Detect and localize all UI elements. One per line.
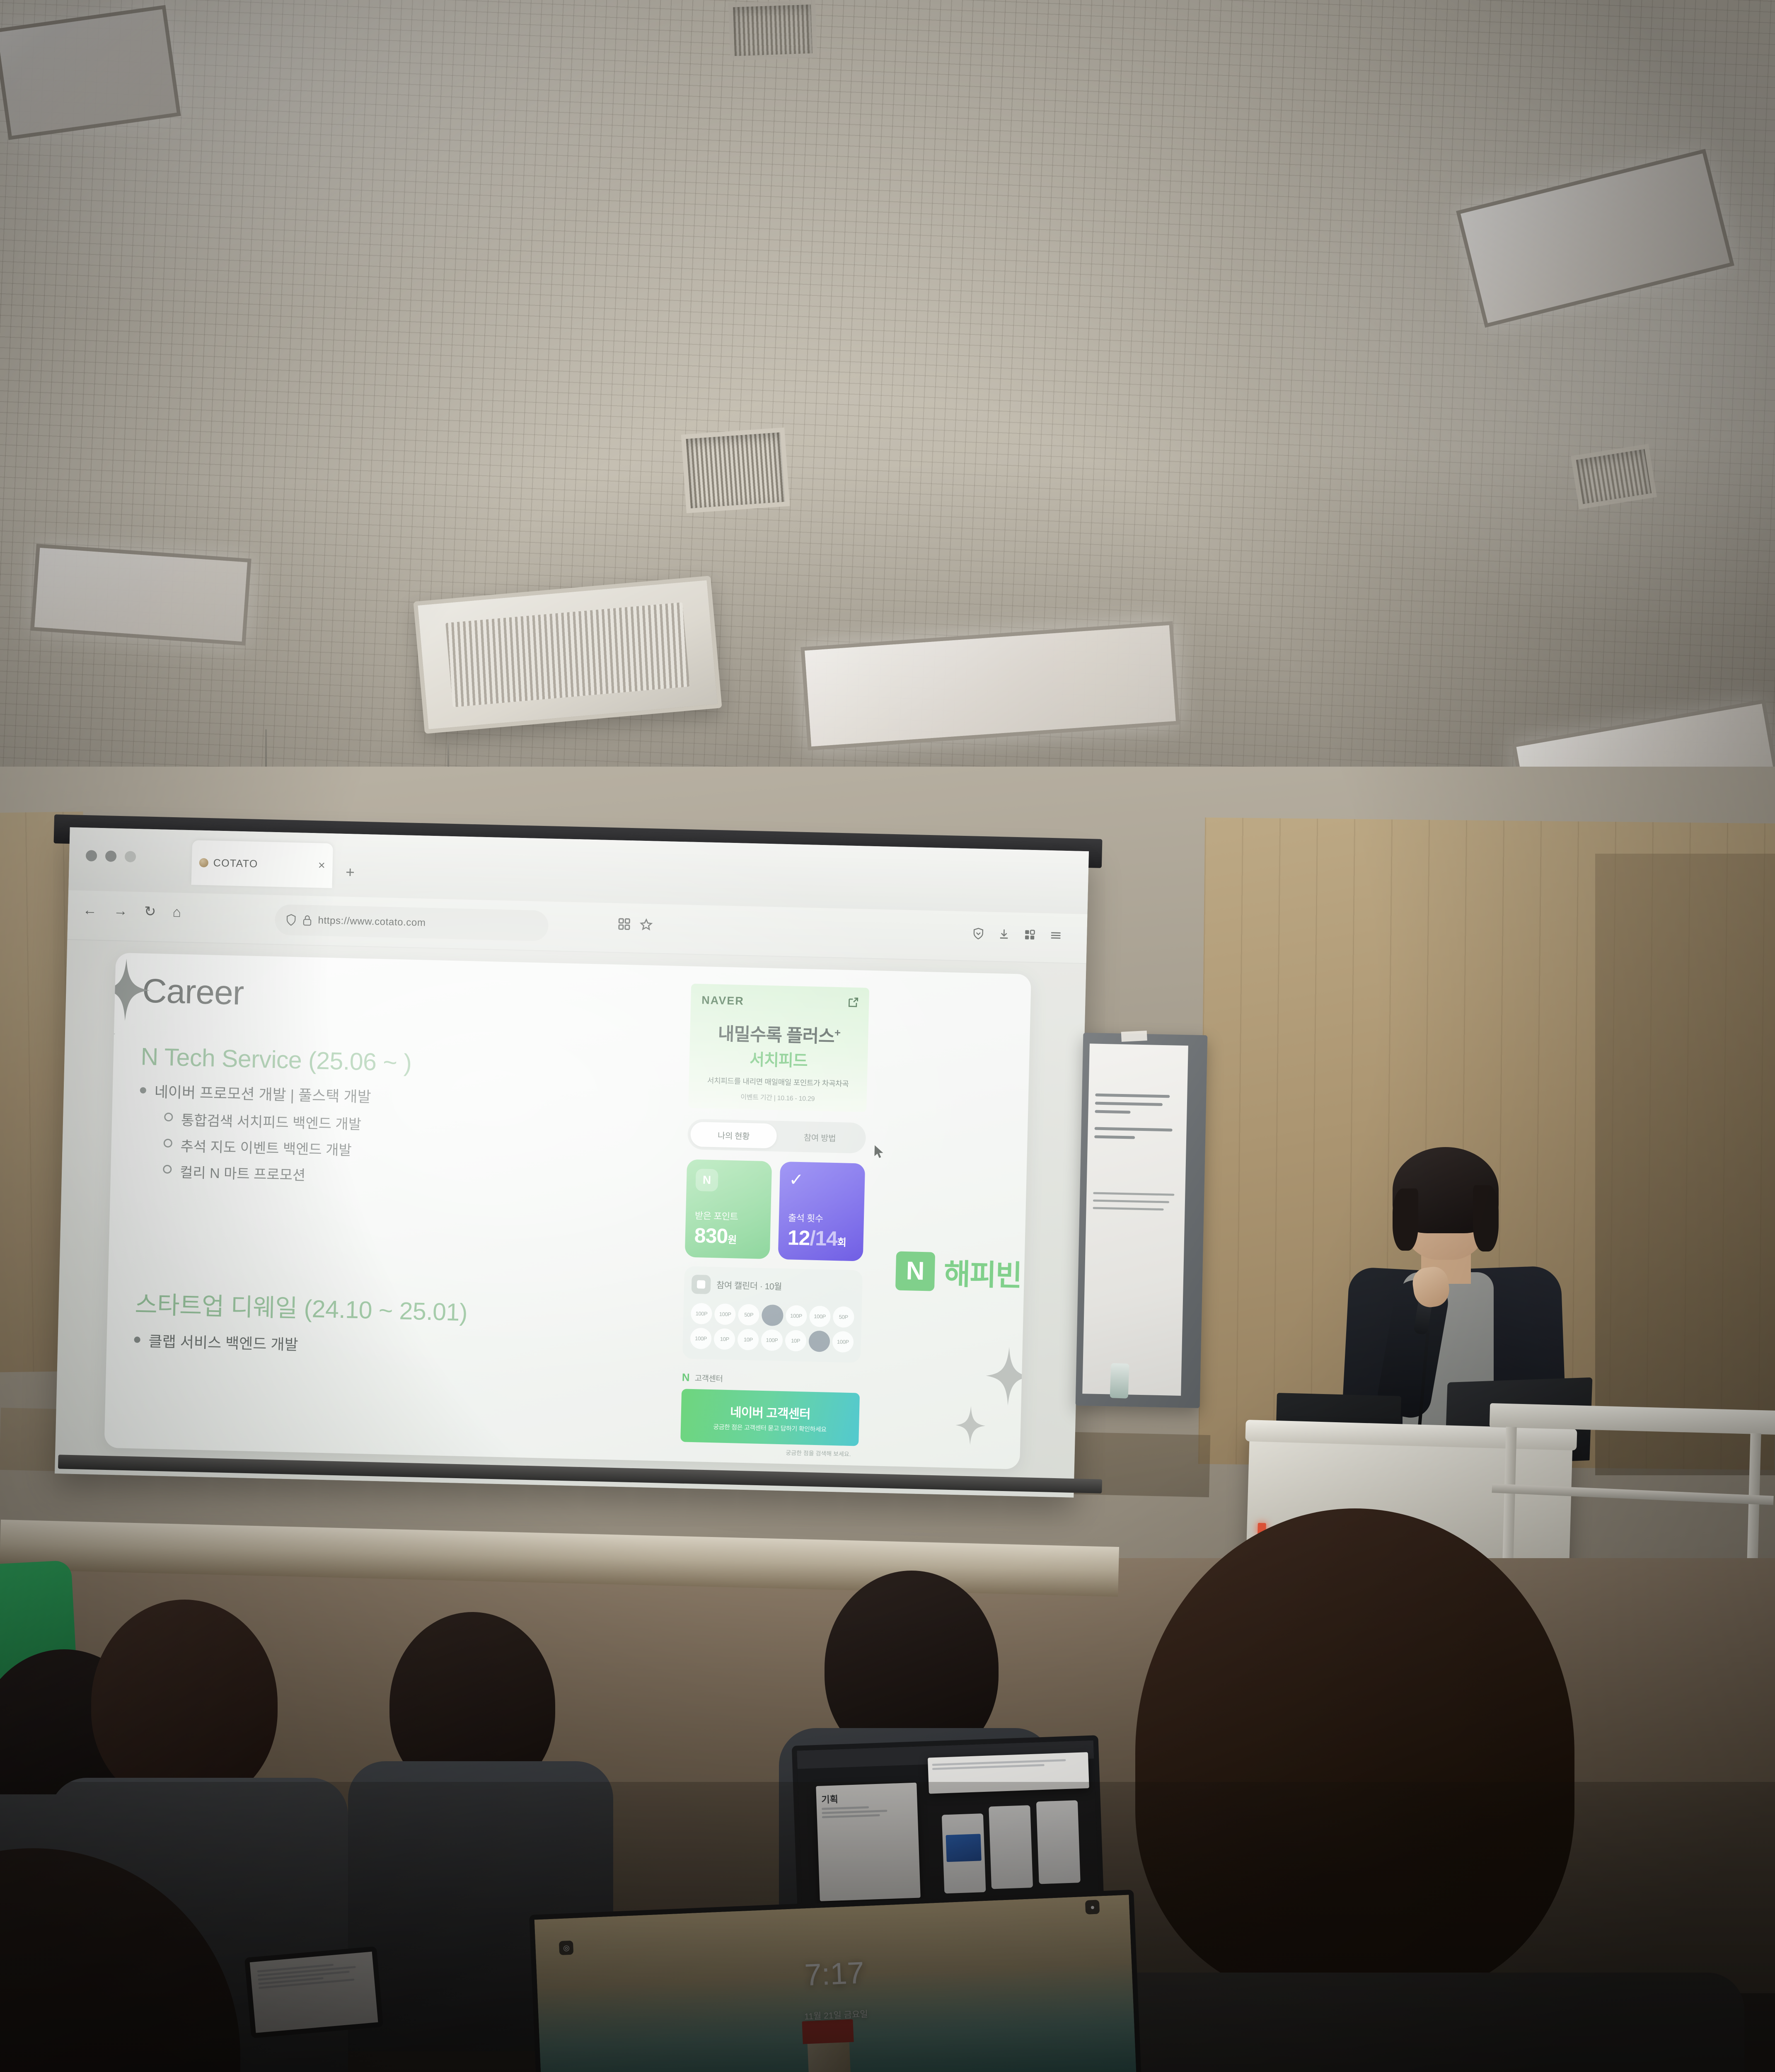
ceiling-air-conditioner (413, 576, 722, 734)
tab-close-icon[interactable]: × (318, 859, 325, 871)
presenter-hair-side-left (1393, 1188, 1418, 1251)
url-text: https://www.cotato.com (318, 915, 426, 929)
promo-title-line1: 내밀수록 플러스+ (701, 1019, 858, 1048)
support-brand-label: 고객센터 (694, 1372, 723, 1384)
projected-browser-window: COTATO × + ← → ↻ ⌂ (55, 827, 1089, 1498)
section-bullet-list: 네이버 프로모션 개발 | 풀스택 개발 통합검색 서치피드 백엔드 개발 추석… (138, 1080, 658, 1192)
sparkle-icon-small-topleft (104, 1014, 116, 1053)
whiteboard-note-3 (1093, 1192, 1178, 1211)
calendar-day[interactable]: 100P (690, 1328, 711, 1349)
shield-icon (285, 914, 297, 927)
ceiling-vent-2 (728, 0, 817, 61)
calendar-title: 참여 캘린더 · 10월 (716, 1278, 782, 1293)
presenter-hair-side-right (1473, 1185, 1499, 1251)
download-icon[interactable] (998, 928, 1010, 941)
promo-subtitle: 서치피드를 내리면 매일매일 포인트가 차곡차곡 (699, 1075, 856, 1089)
whiteboard-tape (1121, 1031, 1147, 1042)
promo-stats-row: N 받은 포인트 830원 ✓ 출석 횟수 12/14회 (685, 1159, 865, 1261)
bookmark-star-icon[interactable] (639, 918, 653, 932)
ceiling-light-panel-3 (30, 544, 251, 646)
new-tab-button[interactable]: + (346, 864, 355, 880)
naver-support-brand: N 고객센터 (682, 1371, 860, 1388)
happybean-wordmark: 해피빈 (943, 1251, 1022, 1294)
support-banner-title: 네이버 고객센터 (730, 1402, 811, 1422)
section-heading: 스타트업 디웨일 (24.10 ~ 25.01) (135, 1285, 653, 1332)
reload-button[interactable]: ↻ (144, 905, 156, 919)
calendar-day[interactable]: 100P (761, 1329, 783, 1351)
bullet-item: 클랩 서비스 백엔드 개발 (134, 1329, 652, 1363)
support-banner-subtitle: 궁금한 점은 고객센터 묻고 답하기 확인하세요 (713, 1422, 827, 1433)
cotato-favicon (199, 858, 209, 868)
qr-grid-icon[interactable] (618, 917, 631, 930)
home-button[interactable]: ⌂ (172, 905, 181, 919)
whiteboard (1076, 1033, 1208, 1408)
naver-support-banner[interactable]: 네이버 고객센터 궁금한 점은 고객센터 묻고 답하기 확인하세요 궁금한 점을… (680, 1389, 860, 1446)
forward-button[interactable]: → (114, 904, 128, 918)
whiteboard-marker (1110, 1363, 1129, 1398)
calendar-day[interactable]: 10P (785, 1330, 806, 1351)
calendar-day[interactable]: 50P (738, 1304, 759, 1326)
calendar-day[interactable]: 100P (691, 1303, 712, 1324)
stat-unit: 회 (837, 1237, 846, 1248)
lecture-hall-photo: COTATO × + ← → ↻ ⌂ (0, 0, 1775, 2072)
lock-icon (302, 914, 312, 927)
extensions-icon[interactable] (1024, 929, 1036, 941)
window-close-dot[interactable] (86, 850, 97, 862)
stat-number-total: /14 (810, 1227, 838, 1251)
sparkle-icon-small-bottomright (955, 1406, 986, 1445)
sparkle-icon-large-bottomright (984, 1346, 1031, 1406)
calendar-day-grid: 100P 100P 50P 100P 100P 50P 100P 10P 10P… (690, 1303, 854, 1353)
stat-value: 830원 (694, 1223, 737, 1248)
calendar-icon (692, 1275, 711, 1294)
browser-tab-cotato[interactable]: COTATO × (191, 840, 333, 888)
calendar-day[interactable]: 100P (714, 1303, 736, 1325)
stat-number: 12 (787, 1226, 810, 1249)
stat-card-points[interactable]: N 받은 포인트 830원 (685, 1159, 772, 1259)
naver-n-badge-icon: N (695, 1169, 718, 1191)
tab-my-status[interactable]: 나의 현황 (690, 1122, 777, 1149)
whiteboard-note-2 (1094, 1127, 1179, 1140)
bullet-item: 컬리 N 마트 프로모션 (163, 1161, 656, 1193)
stat-card-attendance[interactable]: ✓ 출석 횟수 12/14회 (778, 1162, 866, 1261)
promo-period: 이벤트 기간 | 10.16 - 10.29 (699, 1090, 856, 1104)
ceiling-vent-1 (681, 428, 790, 513)
mouse-cursor-icon (873, 1145, 885, 1160)
calendar-day[interactable]: 100P (832, 1331, 854, 1353)
back-button[interactable]: ← (83, 903, 97, 917)
sparkle-icon-large-topleft (104, 958, 151, 1021)
menu-icon[interactable] (1050, 930, 1062, 941)
whiteboard-note-1 (1095, 1094, 1180, 1115)
address-bar[interactable]: https://www.cotato.com (275, 904, 549, 942)
tracking-shield-icon[interactable] (972, 927, 984, 940)
promo-title-line2: 서치피드 (700, 1046, 857, 1072)
naver-promo-mock-column: NAVER 내밀수록 플러스+ 서치피드 서치피드를 내리면 매일매일 포인트가… (680, 984, 869, 1446)
window-minimize-dot[interactable] (105, 850, 117, 862)
stat-number: 830 (694, 1224, 728, 1248)
promo-plus-sign: + (834, 1026, 841, 1039)
bullet-item: 네이버 프로모션 개발 | 풀스택 개발 (140, 1080, 658, 1113)
stat-unit: 원 (728, 1234, 737, 1246)
ac-grill (445, 602, 690, 707)
bullet-item: 추석 지도 이벤트 백엔드 개발 (163, 1135, 657, 1167)
stat-label: 출석 횟수 (788, 1210, 823, 1225)
foreground-shadow-overlay (0, 1782, 1775, 2072)
window-traffic-lights[interactable] (86, 850, 136, 862)
career-section-dwhale: 스타트업 디웨일 (24.10 ~ 25.01) 클랩 서비스 백엔드 개발 (134, 1285, 653, 1369)
audience-head-left-front (91, 1600, 278, 1807)
support-search-note: 궁금한 점을 검색해 보세요. (786, 1449, 851, 1459)
section-bullet-list: 클랩 서비스 백엔드 개발 (134, 1329, 652, 1363)
stat-label: 받은 포인트 (695, 1208, 738, 1222)
section-heading: N Tech Service (25.06 ~ ) (140, 1042, 659, 1082)
participation-calendar-card: 참여 캘린더 · 10월 100P 100P 50P 100P 100P 50P… (682, 1266, 863, 1363)
calendar-day-claimed[interactable] (808, 1331, 830, 1352)
whiteboard-surface (1082, 1043, 1188, 1396)
check-icon: ✓ (789, 1171, 856, 1190)
bullet-item: 통합검색 서치피드 백엔드 개발 (164, 1109, 658, 1140)
naver-wordmark: NAVER (701, 994, 858, 1010)
page-title: Career (142, 971, 244, 1013)
side-table-rail (1492, 1484, 1773, 1505)
projection-screen: COTATO × + ← → ↻ ⌂ (55, 827, 1089, 1498)
calendar-day[interactable]: 10P (738, 1329, 759, 1351)
calendar-day[interactable]: 10P (714, 1328, 735, 1350)
calendar-day[interactable]: 50P (833, 1306, 854, 1328)
calendar-day-claimed[interactable] (762, 1305, 783, 1326)
happybean-n-mark: N (895, 1251, 935, 1291)
calendar-day[interactable]: 100P (809, 1306, 831, 1327)
promo-tab-switcher[interactable]: 나의 현황 참여 방법 (687, 1119, 866, 1154)
slide-card: Career N Tech Service (25.06 ~ ) 네이버 프로모… (104, 953, 1031, 1469)
naver-n-mark: N (682, 1371, 690, 1384)
happybean-logo: N 해피빈 (895, 1250, 1022, 1295)
calendar-day[interactable]: 100P (785, 1305, 807, 1326)
wood-wall-panel-dark (1595, 854, 1775, 1475)
tab-title: COTATO (213, 857, 258, 870)
naver-promo-card[interactable]: NAVER 내밀수록 플러스+ 서치피드 서치피드를 내리면 매일매일 포인트가… (688, 984, 869, 1112)
window-maximize-dot[interactable] (125, 851, 136, 862)
career-section-ntech: N Tech Service (25.06 ~ ) 네이버 프로모션 개발 | … (138, 1042, 659, 1198)
stat-value: 12/14회 (787, 1225, 846, 1251)
tab-how-to-join[interactable]: 참여 방법 (776, 1124, 863, 1151)
external-link-icon[interactable] (846, 997, 859, 1009)
